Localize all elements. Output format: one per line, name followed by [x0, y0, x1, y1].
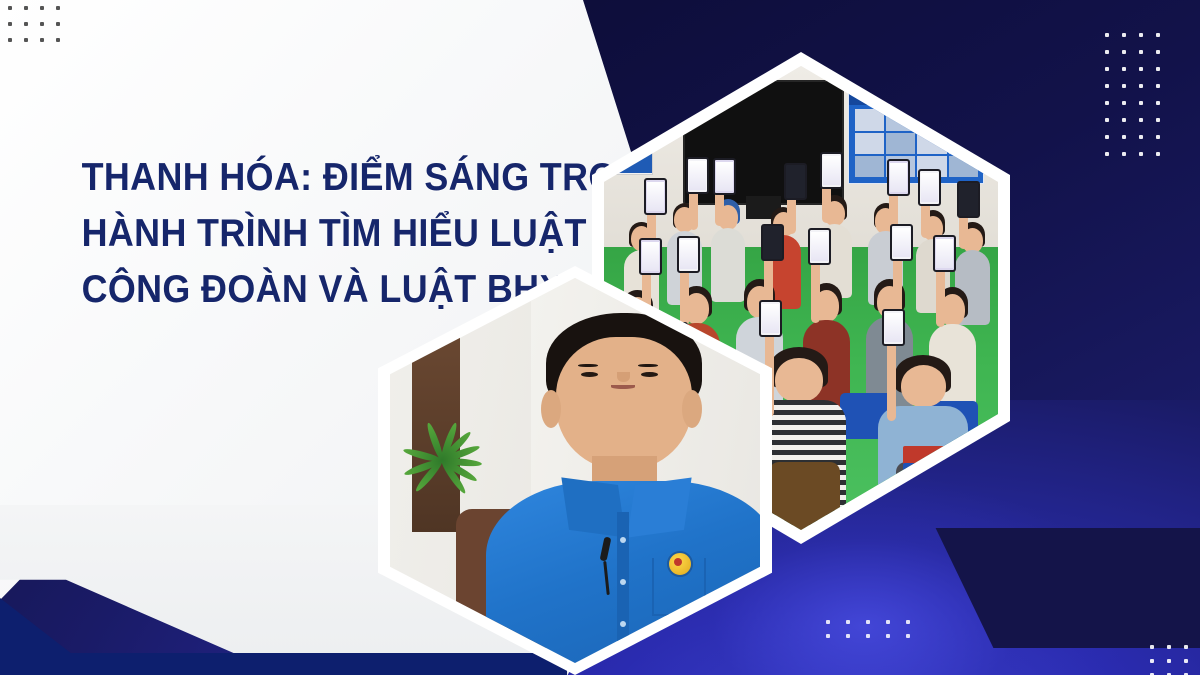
dot — [1122, 84, 1126, 88]
dot-grid-bottom-center — [826, 620, 926, 648]
dot — [24, 6, 28, 10]
dot-grid-top-left — [8, 6, 72, 54]
dot — [1105, 50, 1109, 54]
dot — [1105, 33, 1109, 37]
dot — [1167, 645, 1171, 649]
dot — [40, 38, 44, 42]
dot — [886, 634, 890, 638]
dot-grid-bottom-right — [1150, 645, 1200, 675]
dot — [1139, 101, 1143, 105]
dot — [1105, 135, 1109, 139]
headline: THANH HÓA: ĐIỂM SÁNG TRONG HÀNH TRÌNH TÌ… — [60, 150, 600, 318]
dot — [846, 620, 850, 624]
dot — [1139, 50, 1143, 54]
dot — [866, 634, 870, 638]
face — [556, 337, 692, 470]
dot — [1105, 118, 1109, 122]
dot — [40, 22, 44, 26]
dot — [1156, 135, 1160, 139]
dot — [56, 38, 60, 42]
dot — [1122, 118, 1126, 122]
ear — [682, 390, 702, 429]
dot — [8, 6, 12, 10]
dot — [24, 38, 28, 42]
dot — [1156, 50, 1160, 54]
dot — [1122, 50, 1126, 54]
dot — [826, 634, 830, 638]
dot — [906, 620, 910, 624]
dot — [1122, 101, 1126, 105]
dot — [1139, 84, 1143, 88]
dot — [1156, 101, 1160, 105]
dot — [886, 620, 890, 624]
dot — [1139, 118, 1143, 122]
dot — [1156, 152, 1160, 156]
dot — [1139, 33, 1143, 37]
dot — [906, 634, 910, 638]
dot — [24, 22, 28, 26]
dot-grid-top-right — [1105, 33, 1173, 169]
dot — [8, 38, 12, 42]
dot — [1167, 659, 1171, 663]
dot — [866, 620, 870, 624]
dot — [1156, 33, 1160, 37]
headline-line-2: HÀNH TRÌNH TÌM HIỂU LUẬT — [82, 206, 579, 262]
dot — [56, 22, 60, 26]
dot — [8, 22, 12, 26]
dot — [1105, 67, 1109, 71]
dot — [1122, 152, 1126, 156]
dot — [1122, 135, 1126, 139]
dot — [1105, 101, 1109, 105]
headline-line-1: THANH HÓA: ĐIỂM SÁNG TRONG — [82, 150, 579, 206]
dot — [1122, 67, 1126, 71]
dot — [1105, 84, 1109, 88]
union-badge-icon — [667, 551, 693, 577]
plant-decor — [397, 378, 486, 509]
dot — [1156, 84, 1160, 88]
dot — [1105, 152, 1109, 156]
dot — [1156, 67, 1160, 71]
dot — [1139, 152, 1143, 156]
navy-accent-strip — [0, 653, 567, 675]
dot — [1122, 33, 1126, 37]
dot — [56, 6, 60, 10]
dot — [40, 6, 44, 10]
dot — [826, 620, 830, 624]
dot — [1150, 659, 1154, 663]
dot — [1150, 645, 1154, 649]
dot — [1184, 645, 1188, 649]
dot — [846, 634, 850, 638]
poster-canvas: THANH HÓA: ĐIỂM SÁNG TRONG HÀNH TRÌNH TÌ… — [0, 0, 1200, 675]
shirt-collar-right — [627, 477, 692, 537]
dot — [1139, 67, 1143, 71]
dot — [1184, 659, 1188, 663]
dot — [1156, 118, 1160, 122]
dot — [1139, 135, 1143, 139]
